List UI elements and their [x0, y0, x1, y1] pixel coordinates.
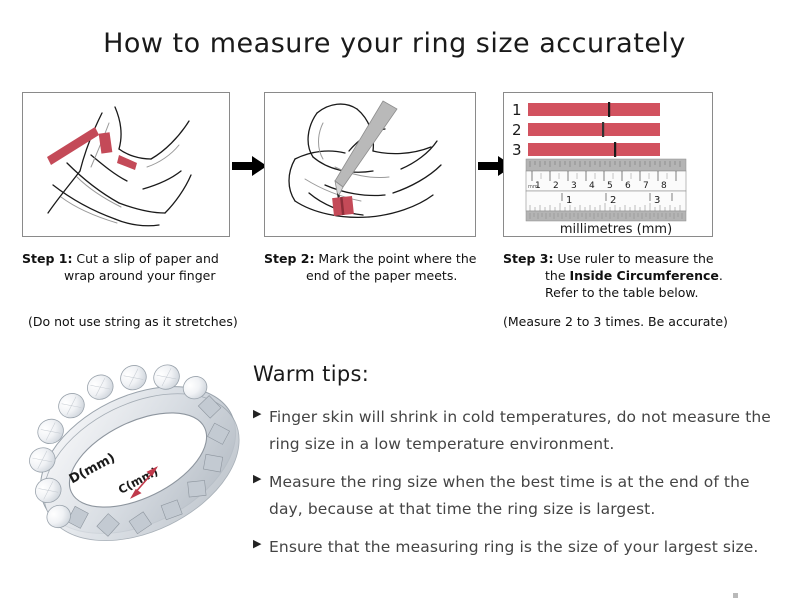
tip-text: Finger skin will shrink in cold temperat…	[269, 404, 773, 458]
step-3-label: Step 3:	[503, 251, 553, 266]
cm-tick-8: 8	[661, 181, 667, 191]
step-3-note: (Measure 2 to 3 times. Be accurate)	[503, 314, 728, 329]
step-3-line2: the	[545, 268, 570, 283]
cm-tick-2: 2	[553, 181, 559, 191]
triangle-bullet-icon: ▶	[253, 534, 269, 549]
step-2-illustration-panel	[264, 92, 476, 237]
strip-label-1: 1	[512, 101, 522, 119]
tip-item: ▶ Ensure that the measuring ring is the …	[253, 534, 773, 561]
step-2-line1: Mark the point where the	[314, 251, 476, 266]
strip-label-3: 3	[512, 141, 522, 159]
hand-with-paper-strip-illustration	[23, 93, 230, 237]
measured-strip-2: 2	[512, 121, 660, 139]
step-1-line1: Cut a slip of paper and	[72, 251, 218, 266]
triangle-bullet-icon: ▶	[253, 404, 269, 419]
cm-tick-3: 3	[571, 181, 577, 191]
step-2-label: Step 2:	[264, 251, 314, 266]
warm-tips-section: Warm tips: ▶ Finger skin will shrink in …	[253, 362, 773, 572]
inch-tick-1: 1	[566, 195, 572, 206]
paper-band-red	[332, 196, 354, 216]
page-title: How to measure your ring size accurately	[0, 28, 789, 59]
pencil-icon	[335, 101, 397, 200]
arrow-step-1-to-2-icon	[232, 155, 268, 177]
step-1-line2: wrap around your finger	[22, 267, 262, 284]
cm-tick-5: 5	[607, 181, 613, 191]
warm-tips-heading: Warm tips:	[253, 362, 773, 386]
step-3-line3: Refer to the table below.	[503, 284, 753, 301]
tip-item: ▶ Measure the ring size when the best ti…	[253, 469, 773, 523]
corner-artifact	[733, 593, 738, 598]
cm-tick-7: 7	[643, 181, 649, 191]
inch-tick-2: 2	[610, 195, 616, 206]
tip-text: Measure the ring size when the best time…	[269, 469, 773, 523]
ruler: 1 2 3 4 5 6 7 8 mm 1 2 3	[526, 159, 686, 221]
cm-tick-4: 4	[589, 181, 595, 191]
step-1-illustration-panel	[22, 92, 230, 237]
measured-strip-1: 1	[512, 101, 660, 119]
step-3-illustration-panel: 1 2 3	[503, 92, 713, 237]
ring-diagram: D(mm) C(mm)	[22, 352, 254, 567]
tip-text: Ensure that the measuring ring is the si…	[269, 534, 773, 561]
strip-label-2: 2	[512, 121, 522, 139]
step-3-line2-end: .	[719, 268, 723, 283]
tip-item: ▶ Finger skin will shrink in cold temper…	[253, 404, 773, 458]
step-1-caption: Step 1: Cut a slip of paper and wrap aro…	[22, 250, 262, 284]
measured-strip-3: 3	[512, 141, 660, 159]
cm-tick-6: 6	[625, 181, 631, 191]
step-3-caption: Step 3: Use ruler to measure the the Ins…	[503, 250, 753, 301]
hand-marking-paper-with-pencil-illustration	[265, 93, 476, 237]
step-1-label: Step 1:	[22, 251, 72, 266]
ruler-caption: millimetres (mm)	[560, 222, 672, 237]
step-2-line2: end of the paper meets.	[264, 267, 494, 284]
step-3-emphasis: Inside Circumference	[570, 268, 719, 283]
step-3-line1: Use ruler to measure the	[553, 251, 713, 266]
triangle-bullet-icon: ▶	[253, 469, 269, 484]
inch-tick-3: 3	[654, 195, 660, 206]
step-2-caption: Step 2: Mark the point where the end of …	[264, 250, 494, 284]
step-1-note: (Do not use string as it stretches)	[28, 314, 238, 329]
ruler-and-paper-strips-illustration: 1 2 3	[504, 93, 713, 237]
ruler-unit-mm: mm	[528, 184, 538, 190]
